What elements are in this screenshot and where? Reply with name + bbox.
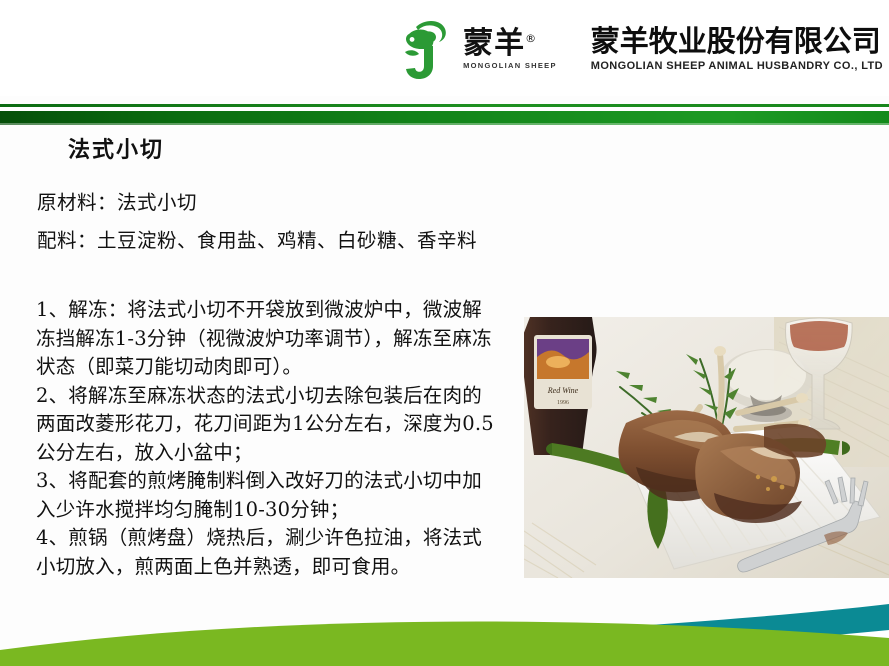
brand-lockup: 蒙羊® MONGOLIAN SHEEP 蒙羊牧业股份有限公司 MONGOLIAN… (399, 18, 883, 80)
footer-white-gap (0, 630, 889, 666)
slide-root: 蒙羊® MONGOLIAN SHEEP 蒙羊牧业股份有限公司 MONGOLIAN… (0, 0, 889, 666)
logo-brand-cn: 蒙羊® (463, 28, 537, 60)
company-name-cn: 蒙羊牧业股份有限公司 (591, 26, 881, 58)
logo-brand-en: MONGOLIAN SHEEP (463, 61, 557, 70)
preparation-steps: 1、解冻：将法式小切不开袋放到微波炉中，微波解冻挡解冻1-3分钟（视微波炉功率调… (36, 296, 496, 581)
step-item: 3、将配套的煎烤腌制料倒入改好刀的法式小切中加入少许水搅拌均匀腌制10-30分钟… (36, 467, 496, 524)
svg-text:Red Wine: Red Wine (547, 386, 579, 395)
page-title: 法式小切 (68, 132, 164, 164)
slide-header: 蒙羊® MONGOLIAN SHEEP 蒙羊牧业股份有限公司 MONGOLIAN… (0, 0, 889, 96)
company-name-block: 蒙羊牧业股份有限公司 MONGOLIAN SHEEP ANIMAL HUSBAN… (591, 26, 883, 73)
raw-material-line: 原材料：法式小切 (37, 186, 197, 215)
footer-green-ellipse (0, 621, 889, 666)
footer-teal-arc (0, 604, 889, 666)
company-name-en: MONGOLIAN SHEEP ANIMAL HUSBANDRY CO., LT… (591, 60, 883, 72)
step-item: 4、煎锅（煎烤盘）烧热后，涮少许色拉油，将法式小切放入，煎两面上色并熟透，即可食… (36, 524, 496, 581)
svg-text:1996: 1996 (557, 400, 569, 406)
registered-trademark-icon: ® (525, 32, 537, 45)
dish-photo: Red Wine 1996 (524, 317, 889, 578)
step-item: 1、解冻：将法式小切不开袋放到微波炉中，微波解冻挡解冻1-3分钟（视微波炉功率调… (36, 296, 496, 382)
step-item: 2、将解冻至麻冻状态的法式小切去除包装后在肉的两面改菱形花刀，花刀间距为1公分左… (36, 382, 496, 468)
mongolian-sheep-ram-logo-icon (399, 18, 455, 80)
header-rule-thick (0, 111, 889, 125)
ingredients-line: 配料：土豆淀粉、食用盐、鸡精、白砂糖、香辛料 (37, 224, 477, 253)
logo-wordmark: 蒙羊® MONGOLIAN SHEEP (463, 28, 557, 71)
